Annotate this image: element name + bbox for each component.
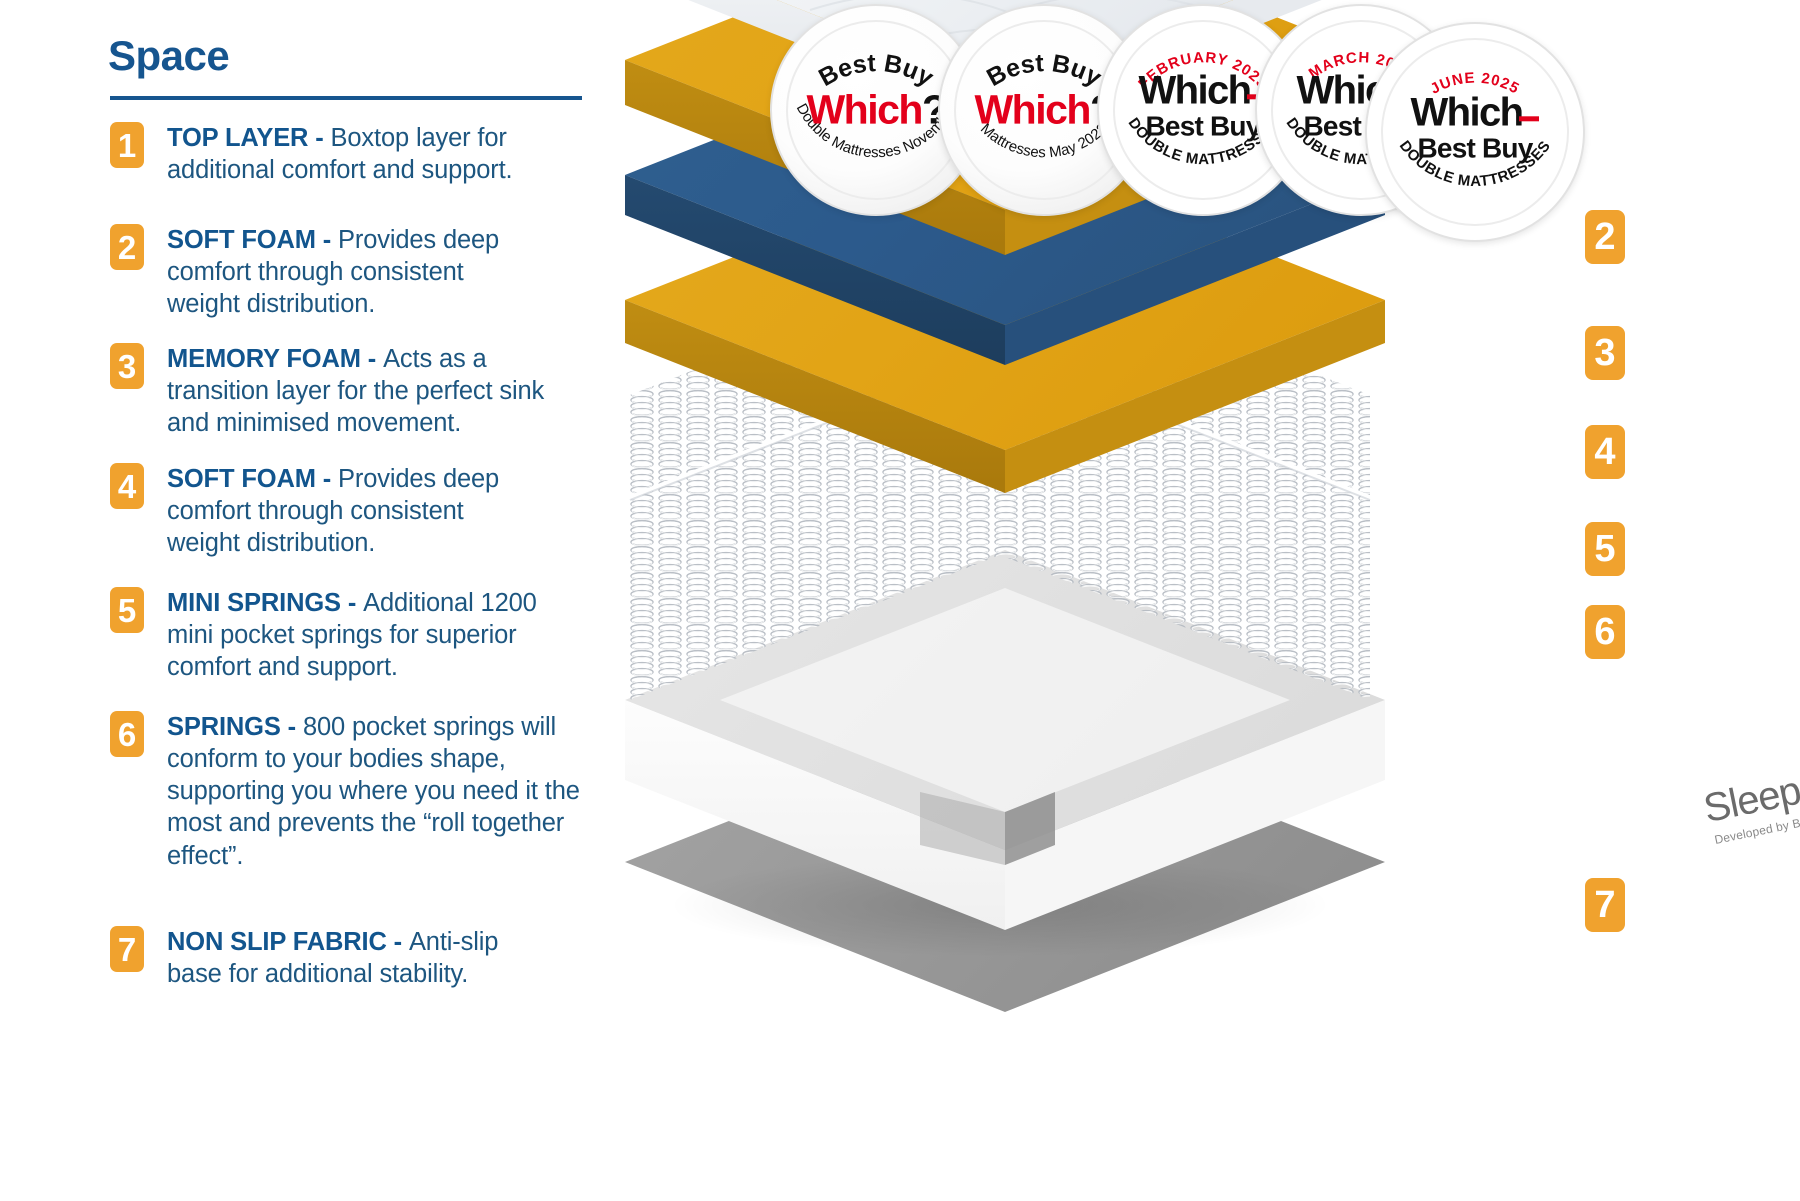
callout-badge-4: 4	[1585, 425, 1625, 479]
best-buy-label: Best Buy	[1365, 133, 1585, 162]
legend-lead: SPRINGS -	[167, 713, 303, 741]
callout-badge-3: 3	[1585, 326, 1625, 380]
legend-number-badge: 5	[110, 587, 144, 633]
list-item: 1 TOP LAYER - Boxtop layer for additiona…	[110, 122, 590, 186]
list-item: 2 SOFT FOAM - Provides deep comfort thro…	[110, 224, 590, 320]
legend-panel: Space 1 TOP LAYER - Boxtop layer for add…	[0, 0, 620, 1201]
list-item: 4 SOFT FOAM - Provides deep comfort thro…	[110, 463, 590, 559]
page-title: Space	[108, 32, 229, 80]
legend-lead: MINI SPRINGS -	[167, 589, 363, 617]
legend-text: TOP LAYER - Boxtop layer for additional …	[167, 122, 590, 186]
legend-number-badge: 2	[110, 224, 144, 270]
legend-lead: SOFT FOAM -	[167, 465, 338, 493]
infographic-root: Space 1 TOP LAYER - Boxtop layer for add…	[0, 0, 1800, 1201]
legend-number-badge: 1	[110, 122, 144, 168]
legend-lead: SOFT FOAM -	[167, 226, 338, 254]
legend-text: MEMORY FOAM - Acts as a transition layer…	[167, 343, 547, 439]
legend-lead: TOP LAYER -	[167, 124, 331, 152]
which-wordmark: Which	[1365, 93, 1585, 131]
list-item: 3 MEMORY FOAM - Acts as a transition lay…	[110, 343, 590, 439]
legend-text: NON SLIP FABRIC - Anti-slip base for add…	[167, 926, 557, 990]
badge-center: Which Best Buy	[1365, 93, 1585, 162]
legend-text: SOFT FOAM - Provides deep comfort throug…	[167, 224, 537, 320]
legend-text: SPRINGS - 800 pocket springs will confor…	[167, 711, 587, 872]
award-badge: JUNE 2025 DOUBLE MATTRESSES Which Best B…	[1365, 22, 1585, 242]
legend-number-badge: 4	[110, 463, 144, 509]
callout-badge-6: 6	[1585, 605, 1625, 659]
callout-badge-2: 2	[1585, 210, 1625, 264]
legend-lead: MEMORY FOAM -	[167, 345, 383, 373]
list-item: 6 SPRINGS - 800 pocket springs will conf…	[110, 711, 610, 872]
legend-number-badge: 3	[110, 343, 144, 389]
legend-number-badge: 7	[110, 926, 144, 972]
legend-lead: NON SLIP FABRIC -	[167, 928, 409, 956]
mattress-exploded-diagram: Best Buy Double Mattresses November Whic…	[600, 0, 1800, 1201]
callout-badge-7: 7	[1585, 878, 1625, 932]
legend-number-badge: 6	[110, 711, 144, 757]
legend-text: SOFT FOAM - Provides deep comfort throug…	[167, 463, 537, 559]
legend-text: MINI SPRINGS - Additional 1200 mini pock…	[167, 587, 567, 683]
title-divider	[110, 96, 582, 100]
callout-badge-5: 5	[1585, 522, 1625, 576]
list-item: 5 MINI SPRINGS - Additional 1200 mini po…	[110, 587, 590, 683]
list-item: 7 NON SLIP FABRIC - Anti-slip base for a…	[110, 926, 590, 990]
